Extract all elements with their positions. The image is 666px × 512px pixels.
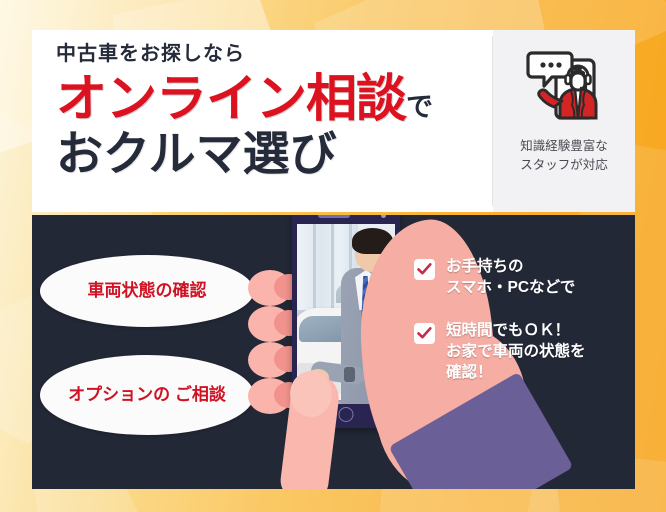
- photo-salesman-watch: [344, 367, 355, 382]
- operator-headset-screen-icon: [522, 44, 606, 133]
- checklist-item-label: 短時間でもＯＫ！ お家で車両の状態を 確認！: [446, 321, 586, 384]
- headline-main-row: オンライン相談で: [56, 73, 492, 124]
- phone-speaker: [318, 215, 350, 218]
- staff-info-box: 知識経験豊富な スタッフが対応: [493, 30, 635, 212]
- checklist-item: 短時間でもＯＫ！ お家で車両の状態を 確認！: [414, 321, 624, 384]
- checklist: お手持ちの スマホ・PCなどで 短時間でもＯＫ！ お家で車両の状態を 確認！: [414, 257, 624, 406]
- headline-card: 中古車をお探しなら オンライン相談で おクルマ選び: [32, 30, 635, 212]
- phone-camera-icon: [381, 215, 386, 218]
- pill-vehicle-condition: 車両状態の確認: [40, 255, 254, 327]
- check-icon: [414, 323, 435, 344]
- checklist-item: お手持ちの スマホ・PCなどで: [414, 257, 624, 299]
- promo-banner: 中古車をお探しなら オンライン相談で おクルマ選び: [0, 0, 666, 512]
- window-mullion: [313, 224, 316, 318]
- staff-caption: 知識経験豊富な スタッフが対応: [520, 137, 608, 175]
- home-button: [339, 407, 354, 422]
- headline-main-suffix: で: [406, 92, 433, 122]
- headline-sub: おクルマ選び: [56, 130, 492, 177]
- pill-options-consult: オプションの ご相談: [40, 355, 254, 435]
- thumb-tip: [290, 371, 332, 417]
- feature-panel: 車両状態の確認 オプションの ご相談: [32, 215, 635, 489]
- checklist-item-label: お手持ちの スマホ・PCなどで: [446, 257, 575, 299]
- window-mullion: [331, 224, 334, 318]
- staff-caption-line1: 知識経験豊富な: [520, 137, 608, 156]
- headline-lead: 中古車をお探しなら: [56, 44, 492, 64]
- check-icon: [414, 259, 435, 280]
- staff-caption-line2: スタッフが対応: [520, 156, 608, 175]
- headline-text-block: 中古車をお探しなら オンライン相談で おクルマ選び: [32, 30, 492, 212]
- headline-main: オンライン相談: [56, 70, 406, 127]
